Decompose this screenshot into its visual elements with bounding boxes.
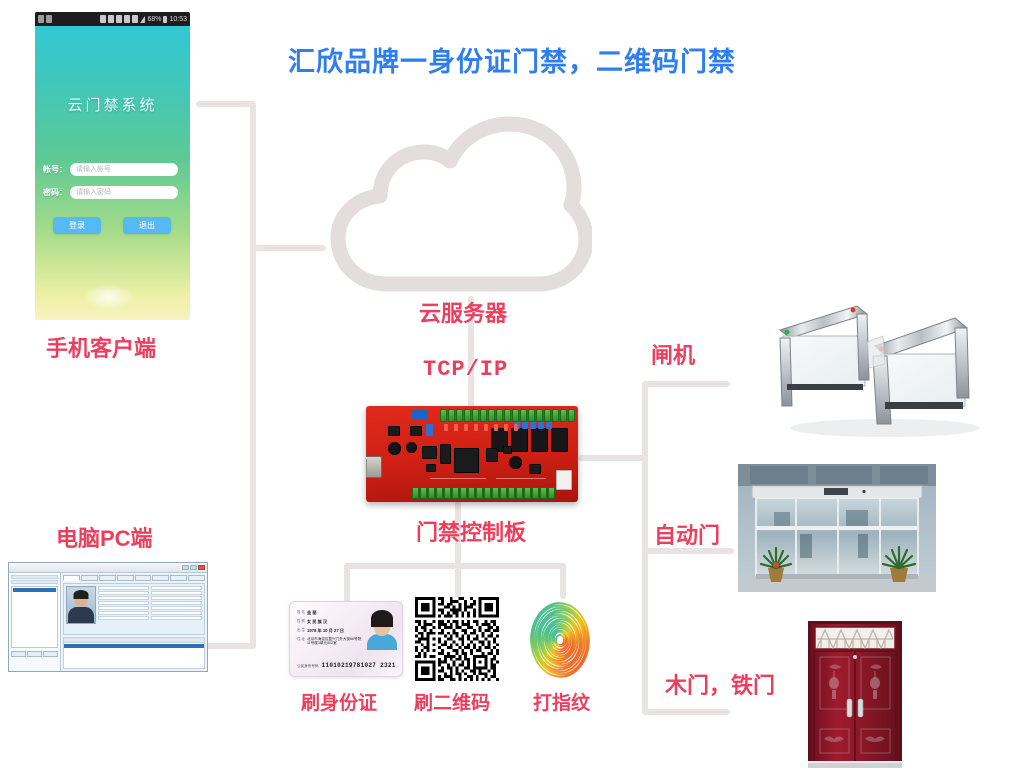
ic-chip	[388, 426, 400, 436]
access-control-board	[366, 406, 578, 502]
pc-form-columns	[98, 586, 202, 632]
status-left-icons	[38, 15, 52, 23]
pc-field[interactable]	[151, 586, 202, 590]
pc-person-form	[63, 583, 205, 635]
white-connector	[556, 470, 572, 490]
tab-device[interactable]	[135, 575, 152, 581]
photo-torso	[68, 607, 94, 623]
id-photo-body	[367, 634, 397, 650]
wood-iron-door-caption: 木门，铁门	[665, 668, 775, 700]
phone-status-bar: 68% 10:53	[35, 12, 190, 26]
account-input[interactable]: 请输入帐号	[70, 163, 178, 176]
blue-terminal-row	[514, 422, 552, 429]
buzzer	[509, 456, 522, 469]
connector-phone-horizontal	[196, 101, 254, 107]
pc-add-button[interactable]	[11, 651, 26, 657]
pc-field[interactable]	[98, 606, 149, 610]
tab-records[interactable]	[117, 575, 134, 581]
pc-client-caption: 电脑PC端	[56, 521, 153, 553]
password-label: 密码：	[43, 187, 67, 198]
pc-form-col-left	[98, 586, 149, 632]
pc-edit-button[interactable]	[27, 651, 42, 657]
diagram-canvas: 汇欣品牌一身份证门禁，二维码门禁 68%	[0, 0, 1024, 768]
tab-permission[interactable]	[99, 575, 116, 581]
led-indicator	[454, 424, 458, 431]
mcu-chip	[454, 448, 479, 473]
id-number-value: 11010219781027 2321	[322, 662, 396, 669]
photo-hair	[74, 590, 89, 599]
bottom-terminal-block	[412, 487, 555, 499]
automatic-door-caption: 自动门	[654, 518, 720, 550]
id-name-value: 金 丽	[307, 610, 317, 616]
pc-search-field[interactable]	[11, 575, 58, 579]
ic-chip	[503, 446, 512, 454]
id-birth-label: 出 生	[297, 628, 305, 633]
qr-code-image	[415, 597, 499, 681]
id-photo-hair	[371, 610, 393, 627]
qr-code-caption: 刷二维码	[414, 688, 490, 715]
memory-chip	[440, 444, 451, 464]
pc-field[interactable]	[98, 616, 149, 620]
pc-field[interactable]	[98, 611, 149, 615]
pc-left-panel	[9, 573, 61, 672]
account-label: 帐号：	[43, 164, 67, 175]
ic-chip	[426, 464, 436, 472]
led-indicator	[464, 424, 468, 431]
app-title: 云门禁系统	[35, 94, 190, 115]
blue-switch	[426, 424, 433, 436]
phone-glow-decoration	[83, 284, 135, 310]
table-row[interactable]	[64, 644, 204, 648]
maximize-icon[interactable]	[190, 565, 197, 570]
cloud-server-icon	[330, 112, 592, 296]
led-indicator	[514, 424, 518, 431]
minimize-icon[interactable]	[182, 565, 189, 570]
id-sex-value: 女 民 族 汉	[307, 619, 327, 625]
led-indicator	[484, 424, 488, 431]
id-name-label: 姓 名	[297, 610, 305, 615]
id-card-row: 出 生 1978 年 10 月 27 日	[297, 628, 363, 634]
tab-person-info[interactable]	[63, 575, 80, 581]
id-card-row: 姓 名 金 丽	[297, 610, 363, 616]
id-number-label: 公民身份号码	[297, 664, 319, 669]
ic-chip	[410, 426, 422, 436]
list-item[interactable]	[13, 588, 56, 592]
tab-card-info[interactable]	[81, 575, 98, 581]
wifi-icon	[132, 15, 138, 23]
cloud-server-caption: 云服务器	[419, 296, 507, 328]
phone-client-mockup: 68% 10:53 云门禁系统 帐号： 请输入帐号 密码： 请输入密码 登录 退…	[35, 12, 190, 320]
notification-icon	[38, 15, 44, 23]
pc-field[interactable]	[151, 606, 202, 610]
tab-report[interactable]	[152, 575, 169, 581]
pc-person-photo	[66, 586, 96, 624]
pc-field[interactable]	[98, 591, 149, 595]
pc-tab-bar	[63, 575, 205, 581]
pc-field[interactable]	[151, 591, 202, 595]
id-card-row: 住 址 北京市海淀区复兴门外大街66号院11号楼3单元502室	[297, 637, 363, 646]
connector-drop-fingerprint	[560, 563, 566, 599]
status-right-icons: 68% 10:53	[100, 15, 187, 23]
ic-chip	[422, 446, 437, 459]
connector-left-to-cloud	[254, 245, 326, 251]
id-card-caption: 刷身份证	[301, 688, 377, 715]
led-indicator	[474, 424, 478, 431]
wood-iron-door-image	[800, 617, 910, 768]
automatic-door-image	[738, 464, 936, 592]
table-header	[64, 638, 204, 643]
signal-icon	[140, 16, 145, 23]
led-indicator	[444, 424, 448, 431]
tab-system[interactable]	[188, 575, 205, 581]
id-sex-label: 性 别	[297, 619, 305, 624]
close-icon[interactable]	[198, 565, 205, 570]
pc-field[interactable]	[98, 596, 149, 600]
id-card-image: 姓 名 金 丽 性 别 女 民 族 汉 出 生 1978 年 10 月 27 日…	[289, 601, 403, 677]
battery-icon	[163, 16, 167, 23]
pc-field[interactable]	[151, 601, 202, 605]
pc-window-buttons	[182, 565, 205, 570]
pc-right-panel	[61, 573, 207, 672]
pc-field[interactable]	[151, 596, 202, 600]
pc-field[interactable]	[98, 601, 149, 605]
id-address-label: 住 址	[297, 637, 305, 642]
status-time: 10:53	[169, 16, 187, 23]
pc-left-buttons	[11, 651, 58, 657]
phone-client-caption: 手机客户端	[46, 331, 156, 363]
pc-window-body	[9, 573, 207, 672]
pc-titlebar	[9, 563, 207, 573]
password-input[interactable]: 请输入密码	[70, 186, 178, 199]
ic-chip	[486, 448, 498, 462]
tcpip-protocol-label: TCP/IP	[423, 357, 508, 382]
connector-branch-irondoor	[642, 709, 730, 715]
logout-button[interactable]: 退出	[123, 217, 171, 234]
id-number-line: 公民身份号码 11010219781027 2321	[297, 662, 396, 669]
led-indicator	[504, 424, 508, 431]
fingerprint-image	[527, 596, 593, 680]
fingerprint-caption: 打指纹	[533, 688, 590, 715]
sync-icon	[116, 15, 122, 23]
login-button[interactable]: 登录	[53, 217, 101, 234]
pc-form-col-right	[151, 586, 202, 632]
connector-left-vertical	[250, 101, 256, 649]
clock-icon	[46, 15, 52, 23]
electrolytic-capacitor	[388, 442, 401, 455]
electrolytic-capacitor	[406, 442, 417, 453]
turnstile-caption: 闸机	[651, 338, 695, 370]
ic-chip	[529, 464, 541, 474]
blue-connector	[412, 410, 428, 419]
account-field-row: 帐号： 请输入帐号	[43, 161, 190, 177]
id-card-fields: 姓 名 金 丽 性 别 女 民 族 汉 出 生 1978 年 10 月 27 日…	[297, 610, 363, 649]
connector-board-to-right	[578, 455, 648, 461]
pc-field[interactable]	[151, 616, 202, 620]
vibrate-icon	[124, 15, 130, 23]
pc-software-mockup	[8, 562, 208, 672]
battery-percent: 68%	[147, 16, 161, 23]
id-card-row: 性 别 女 民 族 汉	[297, 619, 363, 625]
pc-field[interactable]	[98, 586, 149, 590]
pc-filter-row[interactable]	[11, 580, 58, 584]
top-terminal-block	[440, 409, 575, 422]
pc-delete-button[interactable]	[43, 651, 58, 657]
rj45-ethernet-port[interactable]	[366, 456, 382, 478]
phone-button-row: 登录 退出	[53, 217, 190, 234]
id-address-value: 北京市海淀区复兴门外大街66号院11号楼3单元502室	[307, 637, 363, 646]
pc-field[interactable]	[151, 611, 202, 615]
password-field-row: 密码： 请输入密码	[43, 184, 190, 200]
connector-drop-qr	[455, 563, 461, 601]
pc-user-list[interactable]	[11, 586, 58, 648]
id-birth-value: 1978 年 10 月 27 日	[307, 628, 344, 634]
bluetooth-icon	[100, 15, 106, 23]
id-card-photo	[367, 610, 397, 650]
led-indicator	[494, 424, 498, 431]
turnstile-image	[735, 288, 1015, 438]
alarm-icon	[108, 15, 114, 23]
connector-drop-idcard	[344, 563, 350, 603]
pc-records-table[interactable]	[63, 637, 205, 669]
tab-settings[interactable]	[170, 575, 187, 581]
control-board-caption: 门禁控制板	[416, 515, 526, 547]
connector-branch-turnstile	[642, 381, 730, 387]
